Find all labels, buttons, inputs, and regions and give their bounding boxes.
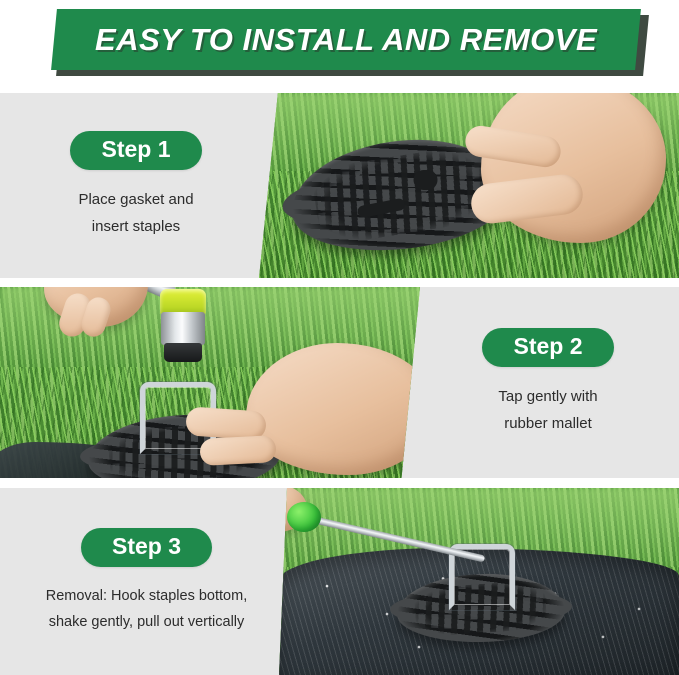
step-3-pill: Step 3 [81,528,212,567]
banner-plate: EASY TO INSTALL AND REMOVE [51,9,641,70]
step-1-caption-line-1: Place gasket and [78,187,193,213]
step-row-3: Step 3 Removal: Hook staples bottom, sha… [0,488,679,675]
step-1-caption-line-2: insert staples [78,214,193,240]
step-row-1: Step 1 Place gasket and insert staples [0,93,679,278]
step-2-caption-line-2: rubber mallet [498,411,597,437]
step-3-caption-line-1: Removal: Hook staples bottom, [46,584,247,609]
step-1-pill: Step 1 [70,131,201,170]
step-2-photo [0,287,420,478]
header-banner: EASY TO INSTALL AND REMOVE [0,0,679,92]
step-2-pill: Step 2 [482,328,613,367]
step-2-caption: Tap gently with rubber mallet [498,384,597,437]
finger-middle [199,435,276,466]
step-1-caption: Place gasket and insert staples [78,187,193,240]
step-2-text: Step 2 Tap gently with rubber mallet [417,287,679,478]
step-1-text: Step 1 Place gasket and insert staples [0,93,272,278]
infographic-page: EASY TO INSTALL AND REMOVE Step 1 [0,0,679,675]
page-title: EASY TO INSTALL AND REMOVE [95,22,597,58]
step-3-caption-line-2: shake gently, pull out vertically [46,610,247,635]
step-3-text: Step 3 Removal: Hook staples bottom, sha… [0,488,293,675]
step-3-caption: Removal: Hook staples bottom, shake gent… [46,584,247,635]
step-1-photo [259,93,679,278]
mallet-body [161,312,205,345]
mallet-striking-face [164,343,202,362]
step-row-2: Step 2 Tap gently with rubber mallet [0,287,679,478]
step-3-photo [279,488,679,675]
step-2-caption-line-1: Tap gently with [498,384,597,410]
disc-upper-slot [414,171,438,191]
